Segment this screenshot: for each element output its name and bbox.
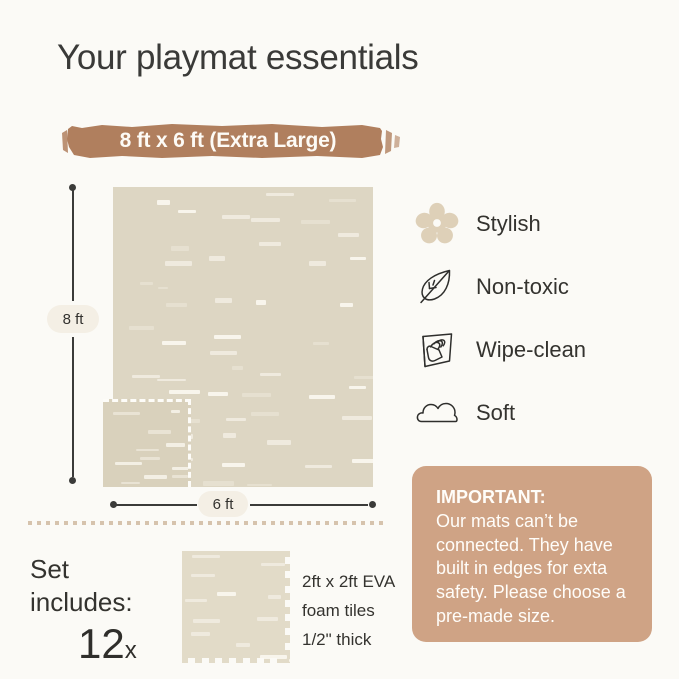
set-includes-section: Set includes: 12x 2ft x 2ft EVA foam til… (30, 545, 390, 670)
tile-desc-line2: foam tiles (302, 601, 375, 620)
page-title: Your playmat essentials (57, 38, 418, 78)
width-dim-line-right (250, 504, 368, 506)
height-dim-dot-bottom (69, 477, 76, 484)
height-dim-line-upper (72, 189, 74, 301)
eva-foam-tile-graphic (182, 551, 290, 663)
feature-list: Stylish Non-toxic (412, 192, 652, 444)
important-body: Our mats can’t be connected. They have b… (436, 510, 632, 629)
feature-item-stylish: Stylish (412, 192, 652, 255)
width-label-pill: 6 ft (198, 491, 248, 517)
important-notice-box: IMPORTANT: Our mats can’t be connected. … (412, 466, 652, 642)
cloud-icon (412, 388, 462, 438)
feature-item-non-toxic: Non-toxic (412, 255, 652, 318)
feature-item-wipe-clean: Wipe-clean (412, 318, 652, 381)
feature-label: Stylish (476, 211, 541, 237)
feature-item-soft: Soft (412, 381, 652, 444)
width-dim-line-left (115, 504, 197, 506)
single-tile-highlight (103, 399, 191, 487)
width-label-text: 6 ft (213, 496, 234, 513)
width-dim-dot-right (369, 501, 376, 508)
feature-label: Wipe-clean (476, 337, 586, 363)
set-includes-count: 12x (78, 623, 137, 665)
badge-label: 8 ft x 6 ft (Extra Large) (62, 117, 402, 165)
set-count-suffix: x (125, 637, 137, 664)
wipe-cloth-icon (412, 325, 462, 375)
feature-label: Non-toxic (476, 274, 569, 300)
set-includes-line1: Set (30, 554, 69, 584)
section-divider (28, 521, 386, 525)
height-label-text: 8 ft (63, 311, 84, 328)
set-includes-line2: includes: (30, 587, 133, 617)
height-dim-line-lower (72, 337, 74, 477)
tile-description: 2ft x 2ft EVA foam tiles 1/2" thick (302, 567, 395, 655)
mat-diagram: 8 ft 6 ft (40, 175, 370, 520)
leaf-icon (412, 262, 462, 312)
important-heading: IMPORTANT: (436, 486, 632, 510)
flower-icon (412, 199, 462, 249)
size-badge: 8 ft x 6 ft (Extra Large) (62, 117, 402, 165)
tile-desc-line3: 1/2" thick (302, 630, 371, 649)
feature-label: Soft (476, 400, 515, 426)
set-includes-label: Set includes: (30, 553, 133, 618)
height-label-pill: 8 ft (47, 305, 99, 333)
set-count-number: 12 (78, 620, 125, 667)
playmat-infographic: Your playmat essentials 8 ft x 6 ft (Ext… (0, 0, 679, 679)
tile-desc-line1: 2ft x 2ft EVA (302, 572, 395, 591)
